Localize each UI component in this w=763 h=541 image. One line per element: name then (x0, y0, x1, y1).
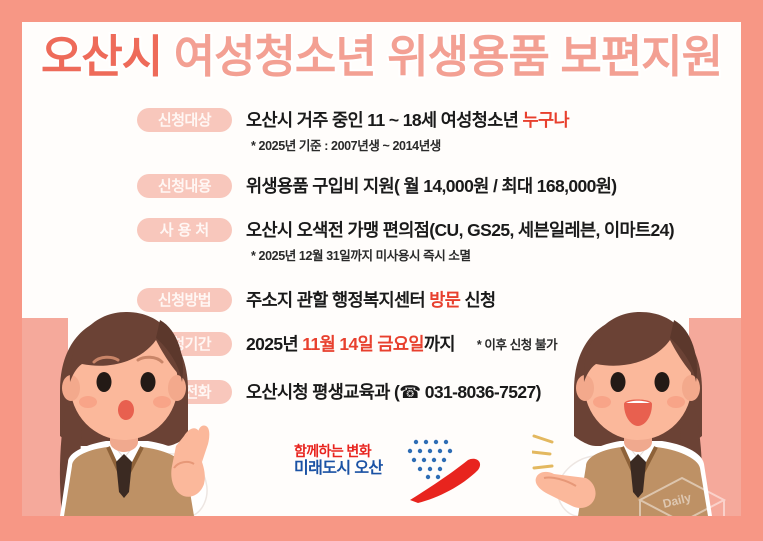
poster-root: 오산시 여성청소년 위생용품 보편지원 신청대상 오산시 거주 중인 11 ~ … (0, 0, 763, 541)
logo-text: 함께하는 변화 미래도시 오산 (294, 444, 383, 478)
content-text-post: 까지 (424, 334, 455, 354)
title-part-4: 보편지원 (560, 31, 722, 82)
content-text: 오산시 거주 중인 11 ~ 18세 여성청소년 (246, 110, 523, 130)
title-part-3: 위생용품 (387, 31, 549, 82)
content-text: 2025년 (246, 334, 302, 354)
content-text: 오산시청 평생교육과 (☎ 031-8036-7527) (246, 382, 541, 402)
row-content-method: 주소지 관할 행정복지센터 방문 신청 (246, 287, 496, 312)
row-label-eligibility: 신청대상 (137, 108, 232, 132)
content-highlight: 누구나 (523, 110, 570, 130)
poster-card: 오산시 여성청소년 위생용품 보편지원 신청대상 오산시 거주 중인 11 ~ … (22, 22, 741, 516)
row-note-eligibility: * 2025년 기준 : 2007년생 ~ 2014년생 (251, 135, 741, 154)
content-highlight: 방문 (429, 290, 460, 310)
page-title: 오산시 여성청소년 위생용품 보편지원 (22, 34, 741, 79)
content-text: 위생용품 구입비 지원( 월 14,000원 / 최대 168,000원) (246, 176, 617, 196)
daily-news-watermark: Daily NEWS (634, 474, 730, 516)
student-character-left (22, 286, 231, 516)
info-row: 신청대상 오산시 거주 중인 11 ~ 18세 여성청소년 누구나 * 2025… (22, 107, 741, 154)
row-label-benefit: 신청내용 (137, 174, 232, 198)
row-content-benefit: 위생용품 구입비 지원( 월 14,000원 / 최대 168,000원) (246, 173, 617, 198)
logo-arrow-icon (406, 456, 486, 504)
info-row: 신청내용 위생용품 구입비 지원( 월 14,000원 / 최대 168,000… (22, 173, 741, 198)
row-content-eligibility: 오산시 거주 중인 11 ~ 18세 여성청소년 누구나 (246, 107, 569, 132)
row-label-usage-place: 사용처 (137, 218, 232, 242)
content-text: 주소지 관할 행정복지센터 (246, 290, 429, 310)
city-logo: 함께하는 변화 미래도시 오산 (280, 434, 490, 502)
logo-line-2: 미래도시 오산 (294, 460, 383, 478)
row-content-usage-place: 오산시 오색전 가맹 편의점(CU, GS25, 세븐일레븐, 이마트24) (246, 217, 674, 242)
content-text-post: 신청 (460, 290, 495, 310)
watermark-line-2: NEWS (667, 515, 709, 516)
info-row: 사용처 오산시 오색전 가맹 편의점(CU, GS25, 세븐일레븐, 이마트2… (22, 217, 741, 264)
content-highlight: 11월 14일 금요일 (302, 334, 424, 354)
row-note-usage-place: * 2025년 12월 31일까지 미사용시 즉시 소멸 (251, 245, 741, 264)
motion-lines-icon (532, 436, 552, 468)
content-text: 오산시 오색전 가맹 편의점(CU, GS25, 세븐일레븐, 이마트24) (246, 220, 674, 240)
title-part-1: 오산시 (41, 31, 162, 82)
watermark-line-1: Daily (661, 490, 693, 511)
logo-line-1: 함께하는 변화 (294, 444, 383, 460)
title-part-2: 여성청소년 (174, 31, 376, 82)
row-content-period: 2025년 11월 14일 금요일까지 (246, 331, 455, 356)
row-content-contact: 오산시청 평생교육과 (☎ 031-8036-7527) (246, 379, 541, 404)
